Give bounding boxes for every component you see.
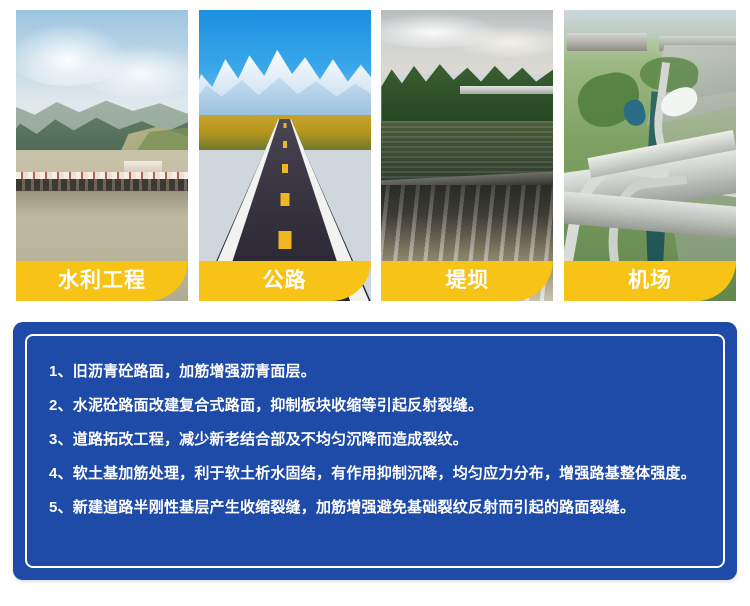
info-panel-inner-border: 1、旧沥青砼路面，加筋增强沥青面层。 2、水泥砼路面改建复合式路面，抑制板块收缩… xyxy=(25,334,725,568)
gallery-card[interactable]: 水利工程 xyxy=(16,10,188,301)
gallery-card-label-text: 堤坝 xyxy=(445,270,489,292)
spillway-dam-photo xyxy=(381,10,553,301)
gallery-card-label-text: 水利工程 xyxy=(58,270,146,292)
info-list-item: 1、旧沥青砼路面，加筋增强沥青面层。 xyxy=(49,364,705,379)
gallery-card-label-text: 机场 xyxy=(628,270,672,292)
gallery-card-label: 机场 xyxy=(564,261,736,301)
project-gallery: 水利工程 公路 xyxy=(0,0,750,310)
info-list-item: 5、新建道路半刚性基层产生收缩裂缝，加筋增强避免基础裂纹反射而引起的路面裂缝。 xyxy=(49,500,705,515)
gallery-card[interactable]: 堤坝 xyxy=(381,10,553,301)
info-list-item: 2、水泥砼路面改建复合式路面，抑制板块收缩等引起反射裂缝。 xyxy=(49,398,705,413)
highway-mountain-photo xyxy=(199,10,371,301)
applications-info-panel: 1、旧沥青砼路面，加筋增强沥青面层。 2、水泥砼路面改建复合式路面，抑制板块收缩… xyxy=(13,322,737,580)
gallery-card-label-text: 公路 xyxy=(263,270,307,292)
gallery-card[interactable]: 公路 xyxy=(199,10,371,301)
gallery-card-label: 公路 xyxy=(199,261,371,301)
gallery-card-label: 堤坝 xyxy=(381,261,553,301)
info-list-item: 4、软土基加筋处理，利于软土析水固结，有作用抑制沉降，均匀应力分布，增强路基整体… xyxy=(49,466,705,481)
gallery-card[interactable]: 机场 xyxy=(564,10,736,301)
gallery-card-label: 水利工程 xyxy=(16,261,188,301)
info-list-item: 3、道路拓改工程，减少新老结合部及不均匀沉降而造成裂纹。 xyxy=(49,432,705,447)
dam-reservoir-photo xyxy=(16,10,188,301)
airport-interchange-photo xyxy=(564,10,736,301)
